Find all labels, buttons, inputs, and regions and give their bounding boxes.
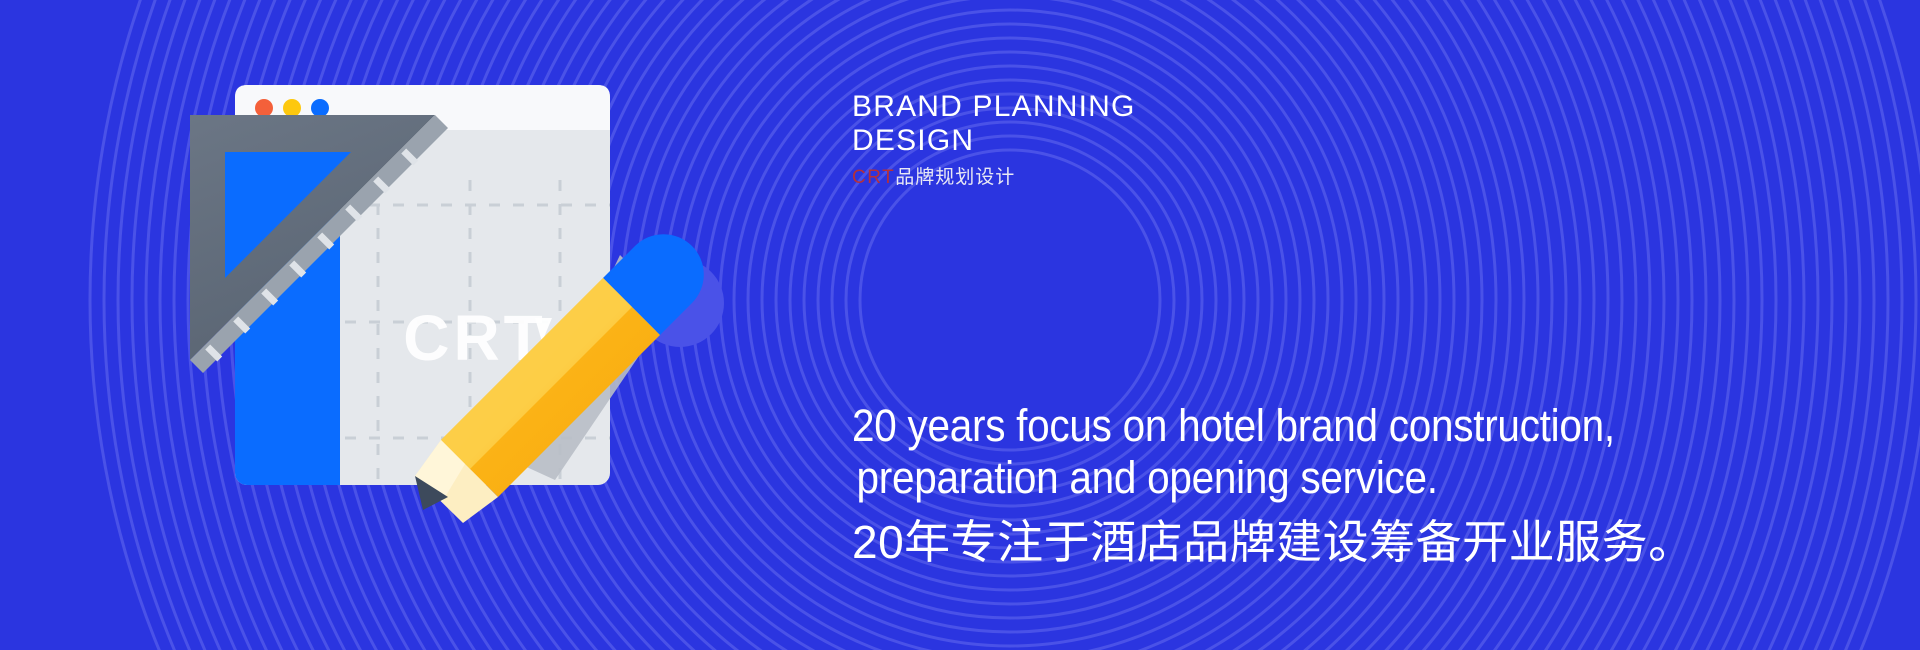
brand-design-illustration: CRT bbox=[180, 60, 740, 580]
window-maximize-dot[interactable] bbox=[311, 99, 329, 117]
headline-chinese-line: 20年专注于酒店品牌建设筹备开业服务。 bbox=[852, 514, 1892, 570]
window-close-dot[interactable] bbox=[255, 99, 273, 117]
eyebrow-chinese-text: 品牌规划设计 bbox=[895, 167, 1015, 188]
eyebrow-english-line2: DESIGN bbox=[852, 124, 974, 157]
banner-text-column: BRAND PLANNINGDESIGN CRT品牌规划设计 20 years … bbox=[852, 0, 1912, 650]
eyebrow-chinese: CRT品牌规划设计 bbox=[852, 166, 1372, 190]
headline-english-line1: 20 years focus on hotel brand constructi… bbox=[852, 400, 1788, 452]
eyebrow-english-line1: BRAND PLANNING bbox=[852, 90, 1136, 123]
eyebrow-heading-group: BRAND PLANNINGDESIGN CRT品牌规划设计 bbox=[852, 90, 1372, 190]
window-minimize-dot[interactable] bbox=[283, 99, 301, 117]
headline-group: 20 years focus on hotel brand constructi… bbox=[852, 400, 1892, 570]
eyebrow-english: BRAND PLANNINGDESIGN bbox=[852, 90, 1372, 158]
brand-banner: CRT bbox=[0, 0, 1920, 650]
headline-english-line2: preparation and opening service. bbox=[852, 452, 1788, 504]
brand-mark-crt: CRT bbox=[852, 167, 895, 188]
